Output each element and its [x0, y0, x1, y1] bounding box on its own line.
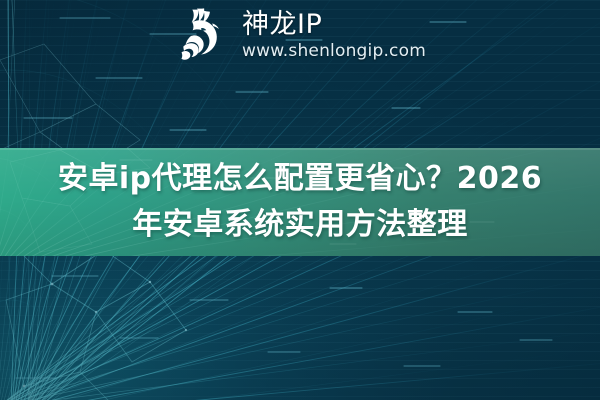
- headline-line-2: 年安卓系统实用方法整理: [132, 202, 468, 248]
- headline-banner: 安卓ip代理怎么配置更省心？2026 年安卓系统实用方法整理: [0, 148, 600, 256]
- dragon-head-icon: [174, 6, 232, 64]
- brand-url: www.shenlongip.com: [242, 43, 426, 60]
- headline-line-1: 安卓ip代理怎么配置更省心？2026: [58, 156, 542, 202]
- headline-text-block: 安卓ip代理怎么配置更省心？2026 年安卓系统实用方法整理: [0, 148, 600, 256]
- brand-name: 神龙IP: [242, 11, 426, 38]
- brand-logo: 神龙IP www.shenlongip.com: [0, 4, 600, 66]
- promo-banner-image: 神龙IP www.shenlongip.com: [0, 0, 600, 400]
- brand-text-block: 神龙IP www.shenlongip.com: [242, 11, 426, 60]
